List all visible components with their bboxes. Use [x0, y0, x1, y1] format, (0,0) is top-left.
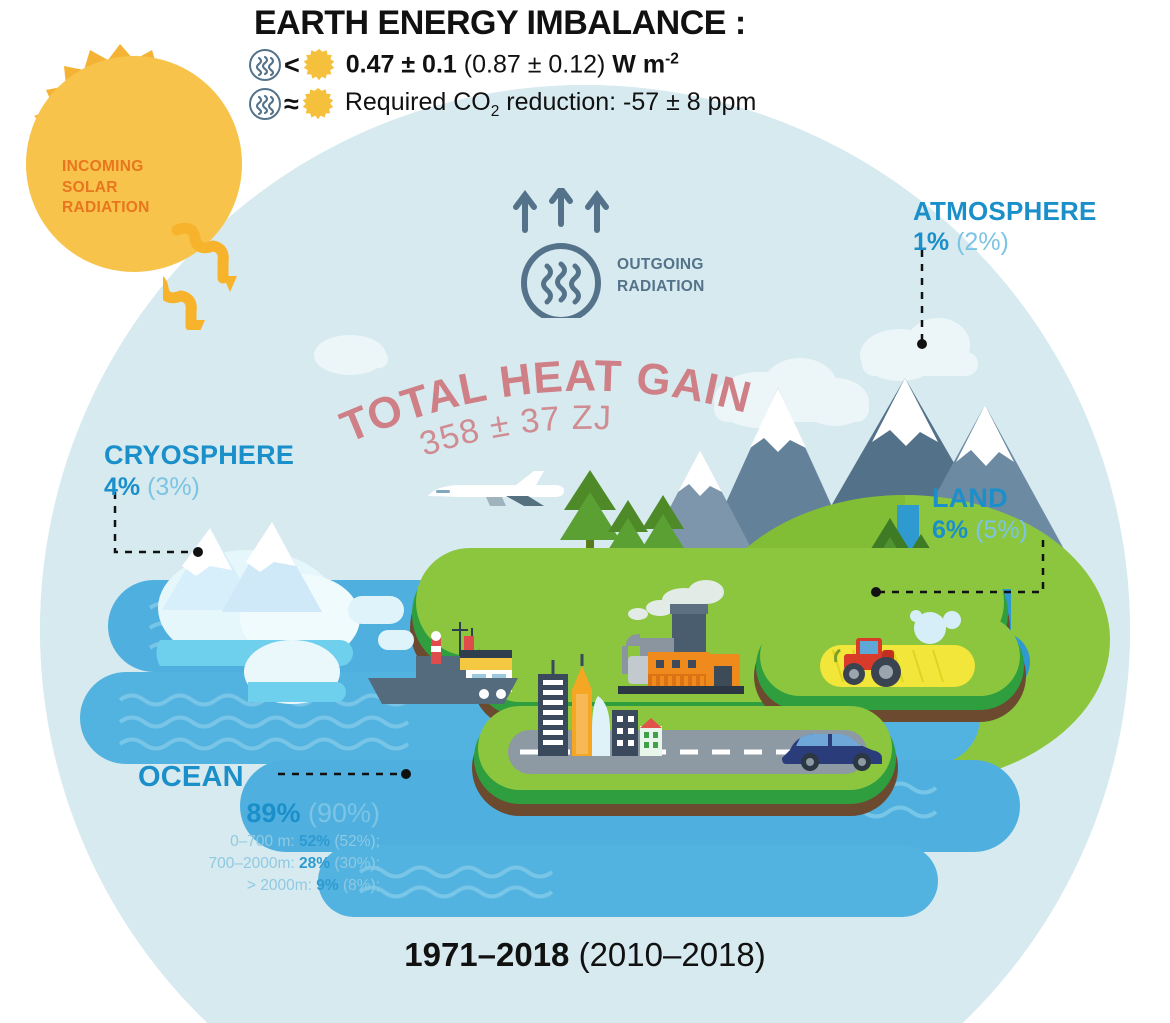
- ocean-depth-row: > 2000m: 9% (8%);: [40, 875, 380, 897]
- sun-icon: [301, 87, 335, 121]
- atmosphere-title: ATMOSPHERE: [913, 198, 1097, 224]
- land-title: LAND: [932, 485, 1028, 512]
- outgoing-radiation-label: OUTGOING RADIATION: [617, 254, 705, 298]
- period-secondary: (2010–2018): [569, 936, 765, 973]
- header-line-1: < 0.47 ± 0.1 (0.87 ± 0.12) W m-2: [248, 48, 1008, 82]
- solar-ray-squiggles: [163, 220, 273, 330]
- ocean-depth-breakdown: 0–700 m: 52% (52%); 700–2000m: 28% (30%)…: [40, 831, 380, 897]
- ocean-value: 89% (90%): [40, 800, 380, 827]
- incoming-solar-radiation-sun: INCOMING SOLAR RADIATION: [8, 42, 243, 302]
- outgoing-radiation-icon: [505, 188, 645, 318]
- label-land: LAND 6% (5%): [932, 485, 1028, 543]
- sun-label: INCOMING SOLAR RADIATION: [62, 157, 192, 219]
- ocean-title: OCEAN: [40, 763, 380, 792]
- page-title: EARTH ENERGY IMBALANCE :: [254, 4, 1008, 43]
- comparator-approx: ≈: [284, 91, 299, 118]
- outgoing-label-line2: RADIATION: [617, 276, 705, 298]
- period-primary: 1971–2018: [404, 936, 569, 973]
- ocean-depth-row: 700–2000m: 28% (30%);: [40, 853, 380, 875]
- header: EARTH ENERGY IMBALANCE : < 0.47 ± 0.1 (0…: [248, 4, 1008, 121]
- cryosphere-title: CRYOSPHERE: [104, 442, 294, 469]
- label-cryosphere: CRYOSPHERE 4% (3%): [104, 442, 294, 500]
- atmosphere-value: 1% (2%): [913, 230, 1097, 255]
- outgoing-label-line1: OUTGOING: [617, 254, 705, 276]
- outgoing-radiation-group: OUTGOING RADIATION: [505, 188, 775, 323]
- label-ocean: OCEAN 89% (90%) 0–700 m: 52% (52%); 700–…: [40, 763, 380, 897]
- land-value: 6% (5%): [932, 518, 1028, 543]
- eei-value-line: 0.47 ± 0.1 (0.87 ± 0.12) W m-2: [346, 50, 679, 79]
- total-heat-gain-group: TOTAL HEAT GAIN 358 ± 37 ZJ: [330, 335, 810, 470]
- label-atmosphere: ATMOSPHERE 1% (2%): [913, 198, 1097, 255]
- infographic-canvas: INCOMING SOLAR RADIATION EARTH ENERGY IM…: [0, 0, 1170, 1023]
- up-arrows: [516, 189, 606, 230]
- outgoing-radiation-icon: [248, 48, 282, 82]
- header-line-2: ≈ Required CO2 reduction: -57 ± 8 ppm: [248, 87, 1008, 121]
- ocean-depth-row: 0–700 m: 52% (52%);: [40, 831, 380, 853]
- co2-reduction-line: Required CO2 reduction: -57 ± 8 ppm: [345, 88, 756, 121]
- outgoing-radiation-icon: [248, 87, 282, 121]
- period-footer: 1971–2018 (2010–2018): [0, 936, 1170, 974]
- cryosphere-value: 4% (3%): [104, 475, 294, 500]
- sun-icon: [302, 48, 336, 82]
- comparator-less-than: <: [284, 52, 300, 79]
